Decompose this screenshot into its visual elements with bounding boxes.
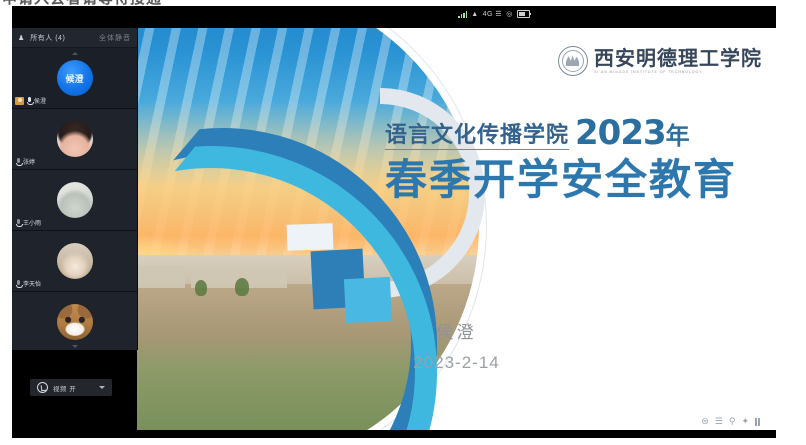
participant-tile[interactable]: 王小雨 xyxy=(12,170,137,231)
headline-year-number: 2023 xyxy=(575,113,666,153)
participant-namebar: 王小雨 xyxy=(12,217,44,228)
chevron-up-icon xyxy=(72,52,78,55)
status-glyphs: 4G ☰ xyxy=(483,11,503,18)
slide-toolbar[interactable]: ⊜ ☰ ⚲ ✦ xyxy=(701,417,760,426)
participant-namebar: 张婷 xyxy=(12,156,38,167)
microphone-icon[interactable] xyxy=(26,97,32,105)
avatar xyxy=(57,304,93,340)
participant-tile[interactable] xyxy=(12,292,137,350)
video-control-label: 视频 开 xyxy=(53,383,76,393)
avatar xyxy=(57,243,93,279)
slide-headline: 语言文化传播学院 2023年 春季开学安全教育 xyxy=(385,116,765,202)
slide-title: 春季开学安全教育 xyxy=(385,158,765,202)
presentation-date: 2023-2-14 xyxy=(137,353,776,373)
chevron-down-icon[interactable] xyxy=(99,386,105,389)
lines-icon[interactable]: ☰ xyxy=(715,417,723,426)
battery-icon xyxy=(517,10,530,18)
key-icon[interactable]: ⚲ xyxy=(729,417,736,426)
globe-icon[interactable]: ⊜ xyxy=(701,417,709,426)
microphone-muted-icon[interactable] xyxy=(15,280,21,288)
participant-name: 张婷 xyxy=(23,157,35,166)
avatar-initials: 候澄 xyxy=(65,72,83,85)
screen-capture: 申请入会者请等待接通 ▲ 4G ☰ ◎ xyxy=(0,0,806,445)
participant-panel-title: 所有人 (4) xyxy=(30,33,93,43)
headline-school: 语言文化传播学院 xyxy=(385,124,569,150)
university-name-cn: 西安明德理工学院 xyxy=(594,48,762,68)
presenter-block: 侯澄 2023-2-14 xyxy=(137,318,776,373)
headline-year-suffix: 年 xyxy=(666,122,690,150)
participant-name: 李天怡 xyxy=(23,279,41,288)
pages-icon[interactable] xyxy=(755,418,760,426)
avatar xyxy=(57,121,93,157)
host-badge xyxy=(15,97,24,105)
university-seal-icon xyxy=(558,46,588,76)
participant-namebar: 李天怡 xyxy=(12,278,44,289)
participant-panel[interactable]: ♟ 所有人 (4) 全体静音 候澄 侯澄 xyxy=(12,28,138,350)
wifi-icon: ▲ xyxy=(471,11,478,18)
microphone-muted-icon[interactable] xyxy=(15,158,21,166)
alarm-icon: ◎ xyxy=(506,11,513,18)
video-control-pill[interactable]: 视频 开 xyxy=(30,379,112,396)
presenter-name: 侯澄 xyxy=(137,318,776,343)
pin-icon[interactable]: ✦ xyxy=(741,417,749,426)
people-icon: ♟ xyxy=(18,34,24,42)
headline-year: 2023年 xyxy=(575,116,690,150)
device-screen: ▲ 4G ☰ ◎ xyxy=(12,6,776,438)
university-logo: 西安明德理工学院 XI'AN MINGDE INSTITUTE OF TECHN… xyxy=(558,46,762,76)
participant-name: 侯澄 xyxy=(34,96,46,105)
university-name-en: XI'AN MINGDE INSTITUTE OF TECHNOLOGY xyxy=(594,71,762,75)
participant-tile[interactable]: 李天怡 xyxy=(12,231,137,292)
avatar xyxy=(57,182,93,218)
signal-bars-icon xyxy=(458,11,467,18)
device-bottom-bar xyxy=(12,430,776,438)
participant-tile[interactable]: 张婷 xyxy=(12,109,137,170)
participant-name: 王小雨 xyxy=(23,218,41,227)
chevron-down-icon[interactable] xyxy=(72,345,78,348)
participant-tile[interactable]: 候澄 侯澄 xyxy=(12,48,137,109)
microphone-muted-icon[interactable] xyxy=(15,219,21,227)
avatar: 候澄 xyxy=(57,60,93,96)
participant-panel-header: ♟ 所有人 (4) 全体静音 xyxy=(12,28,137,48)
mute-all-button[interactable]: 全体静音 xyxy=(99,33,131,43)
shared-slide: 西安明德理工学院 XI'AN MINGDE INSTITUTE OF TECHN… xyxy=(137,28,776,438)
status-bar: ▲ 4G ☰ ◎ xyxy=(12,6,776,22)
participant-namebar: 侯澄 xyxy=(12,95,49,106)
leave-meeting-icon[interactable] xyxy=(37,382,48,393)
